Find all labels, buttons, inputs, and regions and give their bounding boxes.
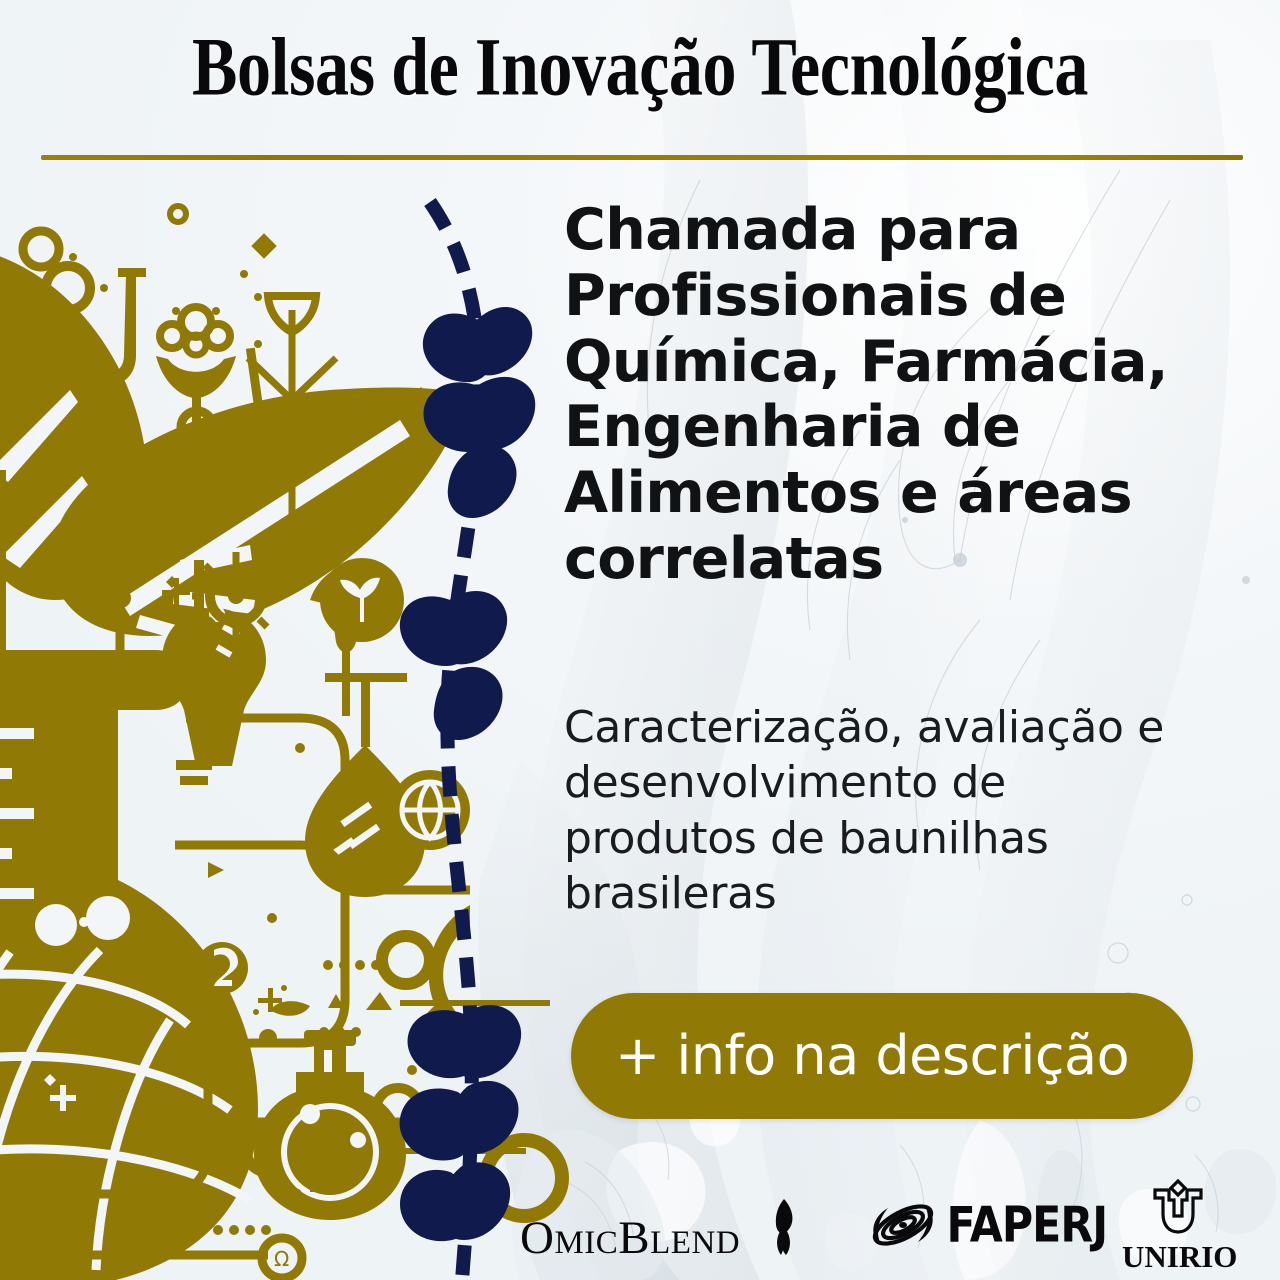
omicblend-logo: OmicBlend <box>520 1192 740 1262</box>
more-info-button[interactable]: + info na descrição <box>571 993 1193 1119</box>
faperj-logo: FAPERJ <box>866 1194 1110 1256</box>
spiral-galaxy-icon <box>866 1194 940 1256</box>
headline-text: Chamada para Profissionais de Química, F… <box>564 198 1204 593</box>
leaf-seed-icon <box>769 1197 799 1257</box>
unirio-logo-text: UNIRIO <box>1122 1239 1234 1275</box>
logo-row: OmicBlend FAPERJ <box>0 1178 1280 1280</box>
unirio-crest-icon <box>1141 1178 1215 1236</box>
poster-canvas: Ω <box>0 0 1280 1280</box>
subheadline-text: Caracterização, avaliação e desenvolvime… <box>564 700 1184 922</box>
poster-title-wrap: Bolsas de Inovação Tecnológica <box>0 26 1280 100</box>
omicblend-logo-text: OmicBlend <box>520 1215 740 1262</box>
gold-divider-rule <box>41 155 1243 160</box>
faperj-logo-text: FAPERJ <box>946 1196 1107 1253</box>
page-title: Bolsas de Inovação Tecnológica <box>51 26 1229 109</box>
unirio-logo: UNIRIO <box>1122 1178 1234 1275</box>
